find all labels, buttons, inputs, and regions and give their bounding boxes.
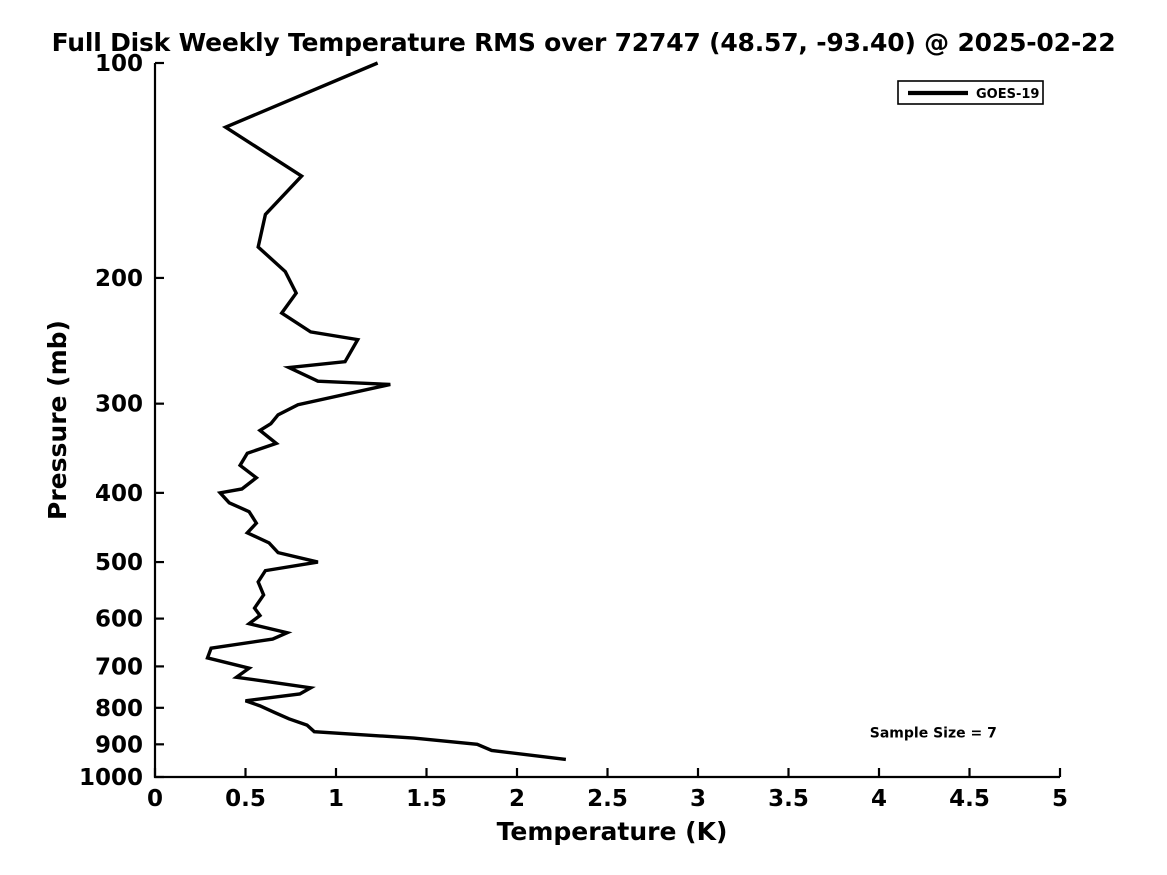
x-tick-label: 0: [147, 786, 163, 812]
x-tick-label: 2: [509, 786, 525, 812]
y-axis-title: Pressure (mb): [43, 320, 72, 520]
y-tick-label: 200: [95, 266, 143, 292]
chart-figure: Full Disk Weekly Temperature RMS over 72…: [0, 0, 1167, 875]
legend[interactable]: GOES-19: [898, 81, 1043, 104]
legend-label-goes-19: GOES-19: [976, 87, 1039, 102]
y-tick-label: 900: [95, 732, 143, 758]
y-tick-label: 1000: [79, 765, 143, 791]
x-tick-label: 0.5: [225, 786, 266, 812]
series-line-goes-19: [207, 63, 565, 759]
y-axis-tick-labels: 1002003004005006007008009001000: [79, 51, 143, 791]
y-tick-label: 400: [95, 481, 143, 507]
x-tick-label: 1: [328, 786, 344, 812]
x-tick-label: 3: [690, 786, 706, 812]
data-series-group: [207, 63, 565, 759]
y-tick-label: 100: [95, 51, 143, 77]
x-tick-label: 4.5: [949, 786, 990, 812]
x-axis-title: Temperature (K): [497, 817, 728, 846]
y-tick-label: 600: [95, 607, 143, 633]
y-tick-label: 800: [95, 696, 143, 722]
y-tick-label: 500: [95, 550, 143, 576]
y-tick-label: 700: [95, 654, 143, 680]
y-tick-label: 300: [95, 392, 143, 418]
x-tick-label: 3.5: [768, 786, 809, 812]
chart-plot-area: 1002003004005006007008009001000 00.511.5…: [0, 0, 1167, 875]
x-tick-label: 5: [1052, 786, 1068, 812]
x-tick-label: 2.5: [587, 786, 628, 812]
sample-size-annotation: Sample Size = 7: [870, 725, 997, 741]
x-axis-tick-labels: 00.511.522.533.544.55: [147, 786, 1068, 812]
x-tick-label: 4: [871, 786, 887, 812]
x-tick-label: 1.5: [406, 786, 447, 812]
